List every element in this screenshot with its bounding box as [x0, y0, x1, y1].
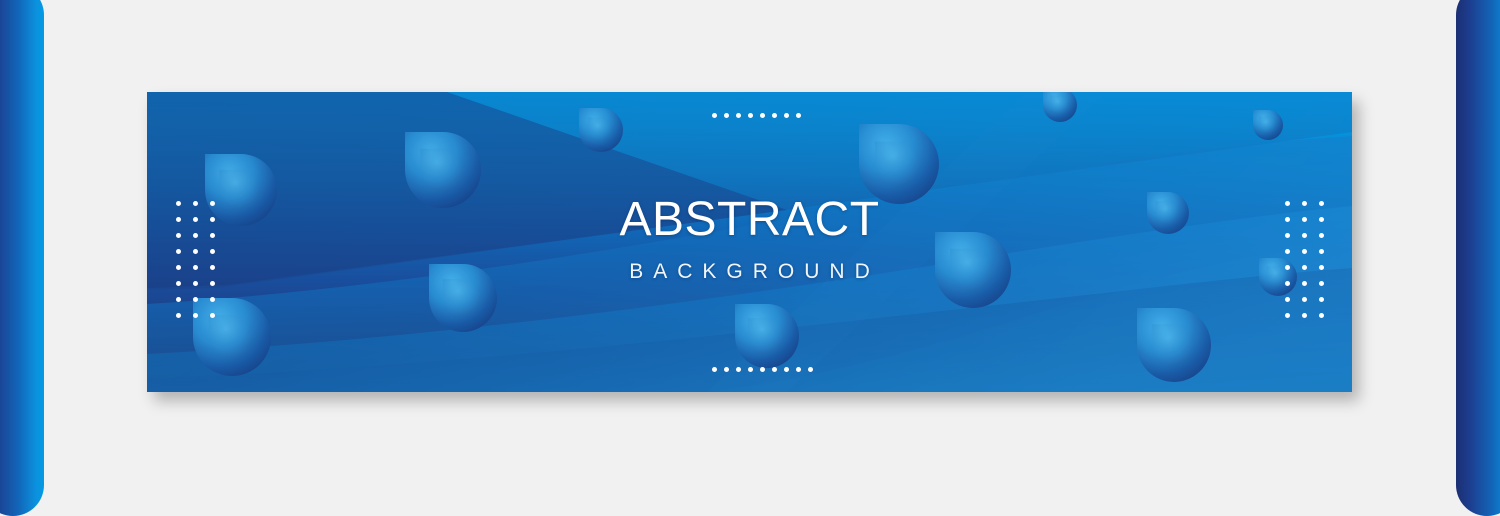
- dot: [772, 113, 777, 118]
- dot: [712, 367, 717, 372]
- dot: [193, 297, 198, 302]
- dot: [1319, 281, 1324, 286]
- dot: [1285, 217, 1290, 222]
- abstract-background-banner: ABSTRACT BACKGROUND: [147, 92, 1352, 392]
- dot: [210, 265, 215, 270]
- dot: [1319, 201, 1324, 206]
- dot: [784, 113, 789, 118]
- dot: [1285, 201, 1290, 206]
- dot: [1302, 201, 1307, 206]
- dot: [176, 265, 181, 270]
- dot: [1319, 217, 1324, 222]
- dot: [736, 367, 741, 372]
- dot: [1302, 297, 1307, 302]
- dot: [808, 367, 813, 372]
- dot: [1319, 265, 1324, 270]
- dot: [1302, 265, 1307, 270]
- dot: [1302, 233, 1307, 238]
- dot: [176, 233, 181, 238]
- dot: [1302, 313, 1307, 318]
- dot: [193, 265, 198, 270]
- dot: [210, 201, 215, 206]
- dot: [193, 233, 198, 238]
- dot: [176, 297, 181, 302]
- dot: [193, 217, 198, 222]
- page-canvas: ABSTRACT BACKGROUND: [0, 0, 1500, 500]
- dot-grid-right: [1285, 201, 1324, 318]
- dot: [193, 281, 198, 286]
- dot: [1285, 265, 1290, 270]
- dot: [796, 367, 801, 372]
- dot: [210, 249, 215, 254]
- dot: [1285, 233, 1290, 238]
- dot: [176, 249, 181, 254]
- dot: [796, 113, 801, 118]
- dot: [760, 367, 765, 372]
- dot: [176, 313, 181, 318]
- dot: [1319, 249, 1324, 254]
- dot: [193, 201, 198, 206]
- dot: [1319, 297, 1324, 302]
- dot: [1302, 249, 1307, 254]
- right-decorative-bar: [1456, 0, 1500, 516]
- dot: [210, 281, 215, 286]
- dot: [1285, 313, 1290, 318]
- dot: [748, 367, 753, 372]
- dot: [760, 113, 765, 118]
- dot-row-bottom: [712, 367, 820, 372]
- dot: [210, 217, 215, 222]
- dot: [736, 113, 741, 118]
- left-decorative-bar: [0, 0, 44, 516]
- dot: [724, 113, 729, 118]
- dot-grid-left: [176, 201, 215, 318]
- dot: [210, 233, 215, 238]
- dot: [193, 313, 198, 318]
- dot: [1319, 313, 1324, 318]
- dot: [176, 201, 181, 206]
- dot: [1285, 281, 1290, 286]
- dot: [193, 249, 198, 254]
- dot: [1319, 233, 1324, 238]
- dot: [1302, 217, 1307, 222]
- banner-artwork: [147, 92, 1352, 392]
- dot: [784, 367, 789, 372]
- dot: [712, 113, 717, 118]
- dot: [724, 367, 729, 372]
- dot: [176, 281, 181, 286]
- dot: [748, 113, 753, 118]
- dot: [772, 367, 777, 372]
- dot: [210, 313, 215, 318]
- dot: [1285, 297, 1290, 302]
- dot: [1285, 249, 1290, 254]
- dot: [1302, 281, 1307, 286]
- dot: [210, 297, 215, 302]
- dot: [176, 217, 181, 222]
- dot-row-top: [712, 113, 808, 118]
